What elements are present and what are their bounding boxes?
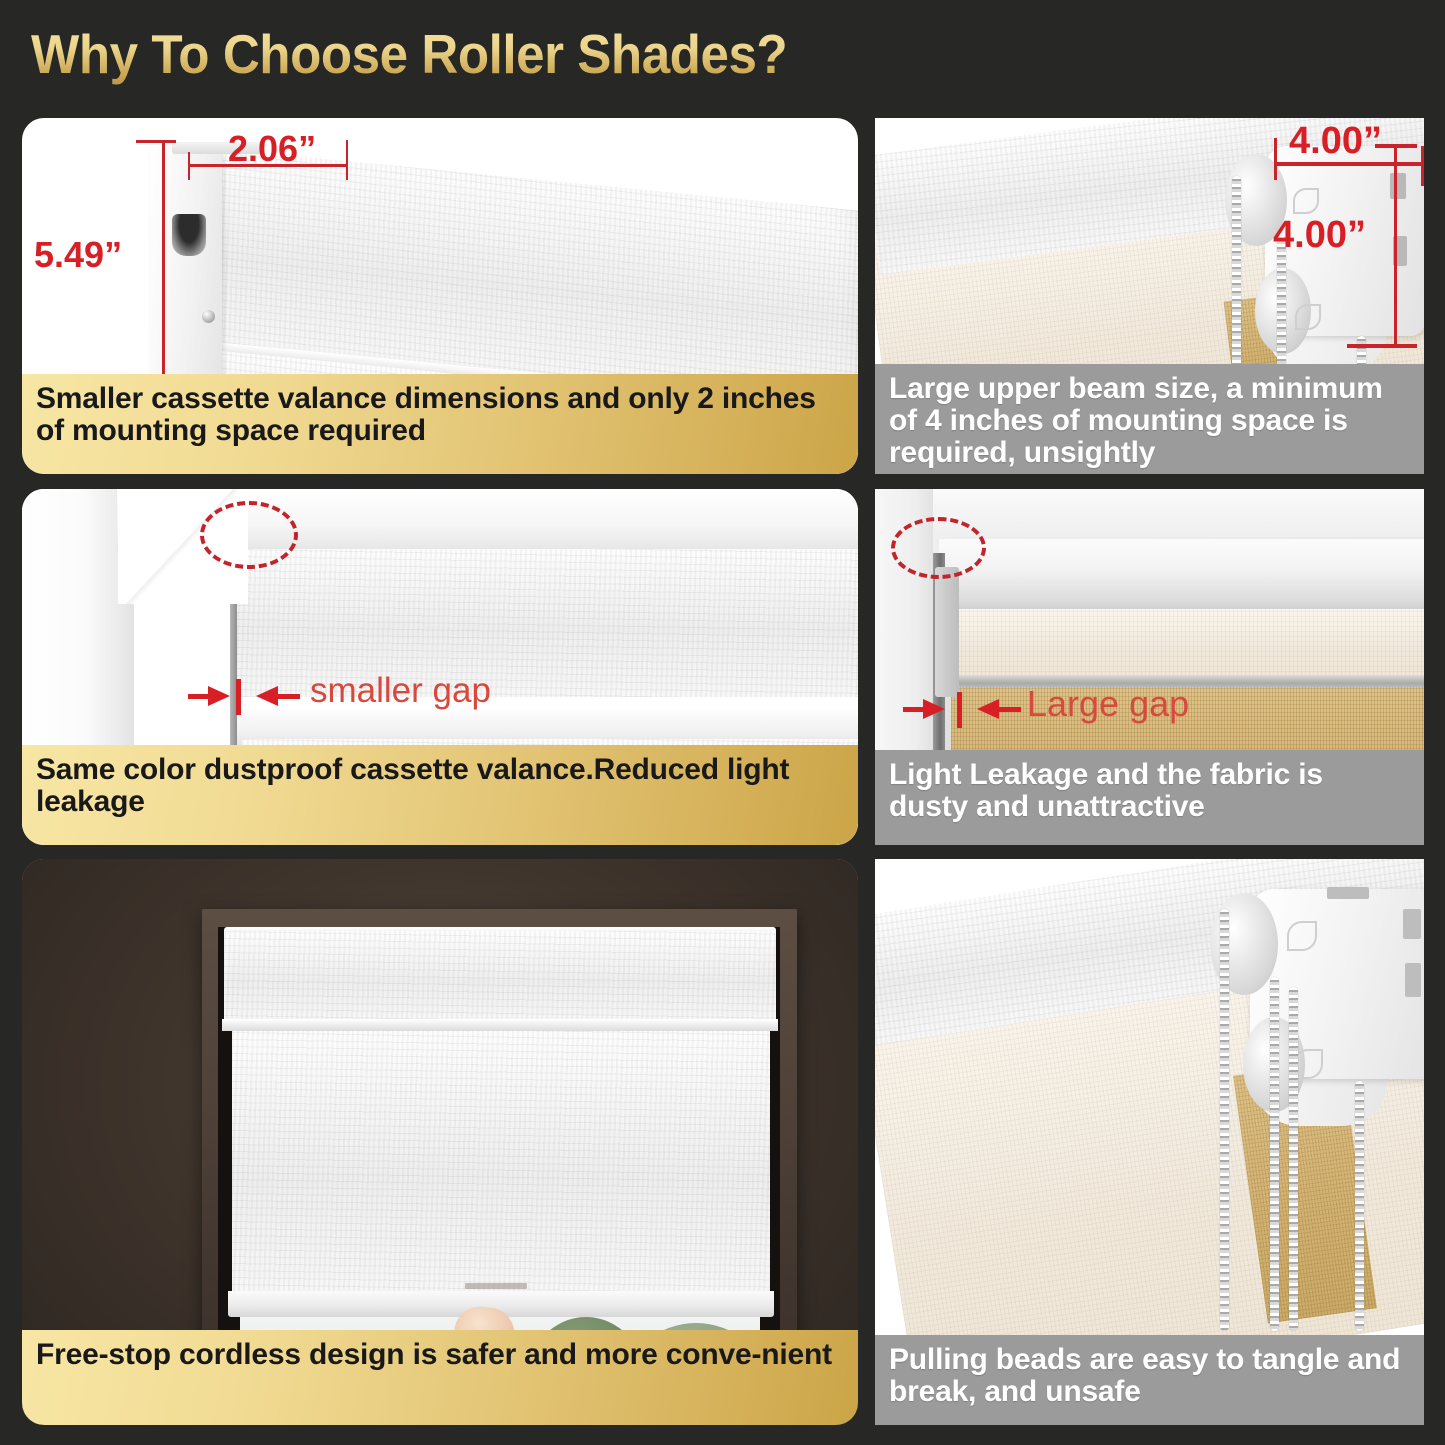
bracket-arrow-icon-bottom [1295,304,1321,330]
p2-width-tick-right [1421,146,1424,186]
panel-1-smaller-cassette: 2.06” 5.49” Smaller cassette valance dim… [22,118,858,474]
gap-measure-bar [236,679,241,715]
cassette-valance-face [224,931,776,1023]
panel-1-caption: Smaller cassette valance dimensions and … [22,374,858,474]
p2-width-tick-left [1274,138,1277,180]
bracket-notch-mid [1405,963,1421,997]
dimension-label-5-49: 5.49” [34,234,122,276]
roller-shade-face [232,1029,770,1299]
gap-arrow-left-head [923,699,945,719]
dimension-label-2-06: 2.06” [228,128,316,170]
page-title: Why To Choose Roller Shades? [31,22,787,86]
p2-height-tick-bottom [1347,344,1417,348]
bead-chain-right [1355,1081,1364,1331]
bracket-notch-top [1390,173,1406,199]
bead-chain-left [1220,909,1229,1331]
gap-arrow-left-tail [188,694,210,699]
panel-5-caption: Free-stop cordless design is safer and m… [22,1330,858,1425]
gap-label-smaller: smaller gap [310,671,491,711]
valance-bottom-edge [222,1019,778,1031]
gap-arrow-right-tail [999,707,1021,712]
gap-label-large: Large gap [1027,683,1189,725]
gap-arrow-right-head [256,686,278,706]
gap-arrow-left-head [208,686,230,706]
panel-3-caption: Same color dustproof cassette valance.Re… [22,745,858,845]
gap-measure-bar [957,692,962,728]
upper-beam [939,539,1424,617]
end-cap-screw [202,310,215,323]
bead-chain-mid [1270,977,1279,1331]
dimension-label-4-00-height: 4.00” [1273,214,1366,257]
bracket-arrow-icon-top [1287,921,1317,951]
p2-height-line [1394,144,1397,348]
highlight-circle-icon [891,517,986,579]
panel-2-large-upper-beam: 4.00” 4.00” Large upper beam size, a min… [875,118,1424,474]
panel-3-dustproof-valance: smaller gap Same color dustproof cassett… [22,489,858,845]
bracket-notch-top [1403,909,1421,939]
panel-4-caption: Light Leakage and the fabric is dusty an… [875,750,1424,845]
panel-6-caption: Pulling beads are easy to tangle and bre… [875,1335,1424,1425]
gap-arrow-right-tail [278,694,300,699]
end-cap-slot [172,214,206,256]
panel-4-light-leakage: Large gap Light Leakage and the fabric i… [875,489,1424,845]
panel-6-pulling-beads: Pulling beads are easy to tangle and bre… [875,859,1424,1425]
bracket-arrow-icon-top [1293,188,1319,214]
brand-tag [465,1283,527,1289]
infographic-canvas: Why To Choose Roller Shades? 2.06” 5.49”… [0,0,1445,1445]
highlight-circle-icon [200,501,298,569]
bracket-slot-top [1327,887,1369,899]
exposed-bracket-hardware [935,567,959,697]
gap-arrow-right-head [977,699,999,719]
panel-2-caption: Large upper beam size, a minimum of 4 in… [875,364,1424,474]
gap-arrow-left-tail [903,707,925,712]
height-dim-tick-top [136,140,176,143]
cream-fabric-band [945,609,1424,677]
panel-5-cordless-design: Free-stop cordless design is safer and m… [22,859,858,1425]
bead-chain-mid2 [1289,987,1298,1331]
dimension-label-4-00-width: 4.00” [1289,120,1382,163]
width-dim-tick-right [346,140,348,180]
